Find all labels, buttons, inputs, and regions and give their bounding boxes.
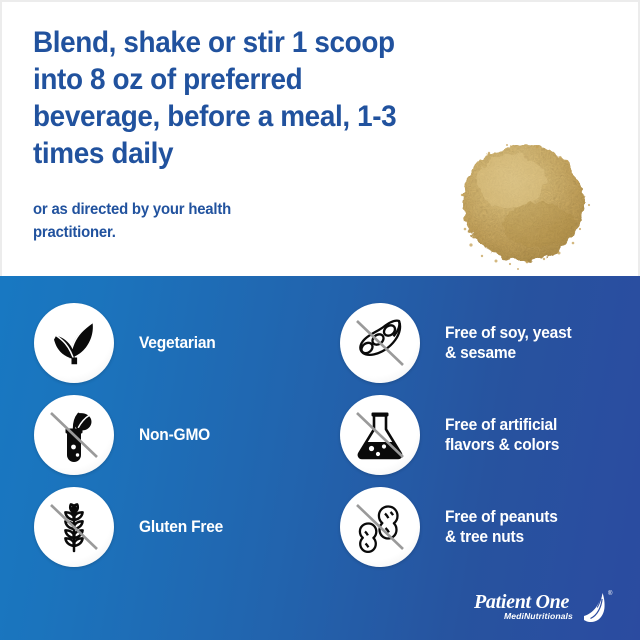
badge-label: Non-GMO	[139, 425, 210, 445]
test-tube-plant-icon	[34, 395, 114, 475]
badge-circle	[34, 303, 114, 383]
logo-tagline: MediNutritionals	[504, 611, 573, 621]
wheat-icon	[34, 487, 114, 567]
badge-label: Vegetarian	[139, 333, 216, 353]
badge-non-gmo[interactable]: Non-GMO	[34, 395, 215, 475]
features-panel: Vegetarian Non-GMO	[0, 276, 640, 640]
page-title: Blend, shake or stir 1 scoop into 8 oz o…	[33, 24, 405, 172]
logo-name: Patient One	[473, 591, 569, 613]
peanuts-icon	[340, 487, 420, 567]
badge-vegetarian[interactable]: Vegetarian	[34, 303, 220, 383]
instructions-panel: Blend, shake or stir 1 scoop into 8 oz o…	[0, 0, 640, 276]
badge-artificial-free[interactable]: Free of artificial flavors & colors	[340, 395, 567, 475]
trademark-symbol: ®	[608, 590, 613, 597]
promo-panel: Blend, shake or stir 1 scoop into 8 oz o…	[0, 0, 640, 640]
badge-circle	[34, 395, 114, 475]
brand-logo[interactable]: Patient One MediNutritionals ®	[472, 586, 618, 628]
swoosh-mark-icon	[584, 593, 605, 622]
soybean-pod-icon	[340, 303, 420, 383]
badge-circle	[340, 487, 420, 567]
instructions-subtext: or as directed by your health practition…	[33, 198, 312, 244]
badge-circle	[340, 303, 420, 383]
badge-label: Free of artificial flavors & colors	[445, 415, 559, 455]
badge-label: Free of peanuts & tree nuts	[445, 507, 558, 547]
leaves-icon	[34, 303, 114, 383]
powder-mound-image	[449, 133, 602, 273]
badge-soy-free[interactable]: Free of soy, yeast & sesame	[340, 303, 580, 383]
badge-nut-free[interactable]: Free of peanuts & tree nuts	[340, 487, 565, 567]
badge-label: Gluten Free	[139, 517, 223, 537]
badge-gluten-free[interactable]: Gluten Free	[34, 487, 229, 567]
badge-circle	[340, 395, 420, 475]
badge-circle	[34, 487, 114, 567]
erlenmeyer-flask-icon	[340, 395, 420, 475]
badge-label: Free of soy, yeast & sesame	[445, 323, 572, 363]
